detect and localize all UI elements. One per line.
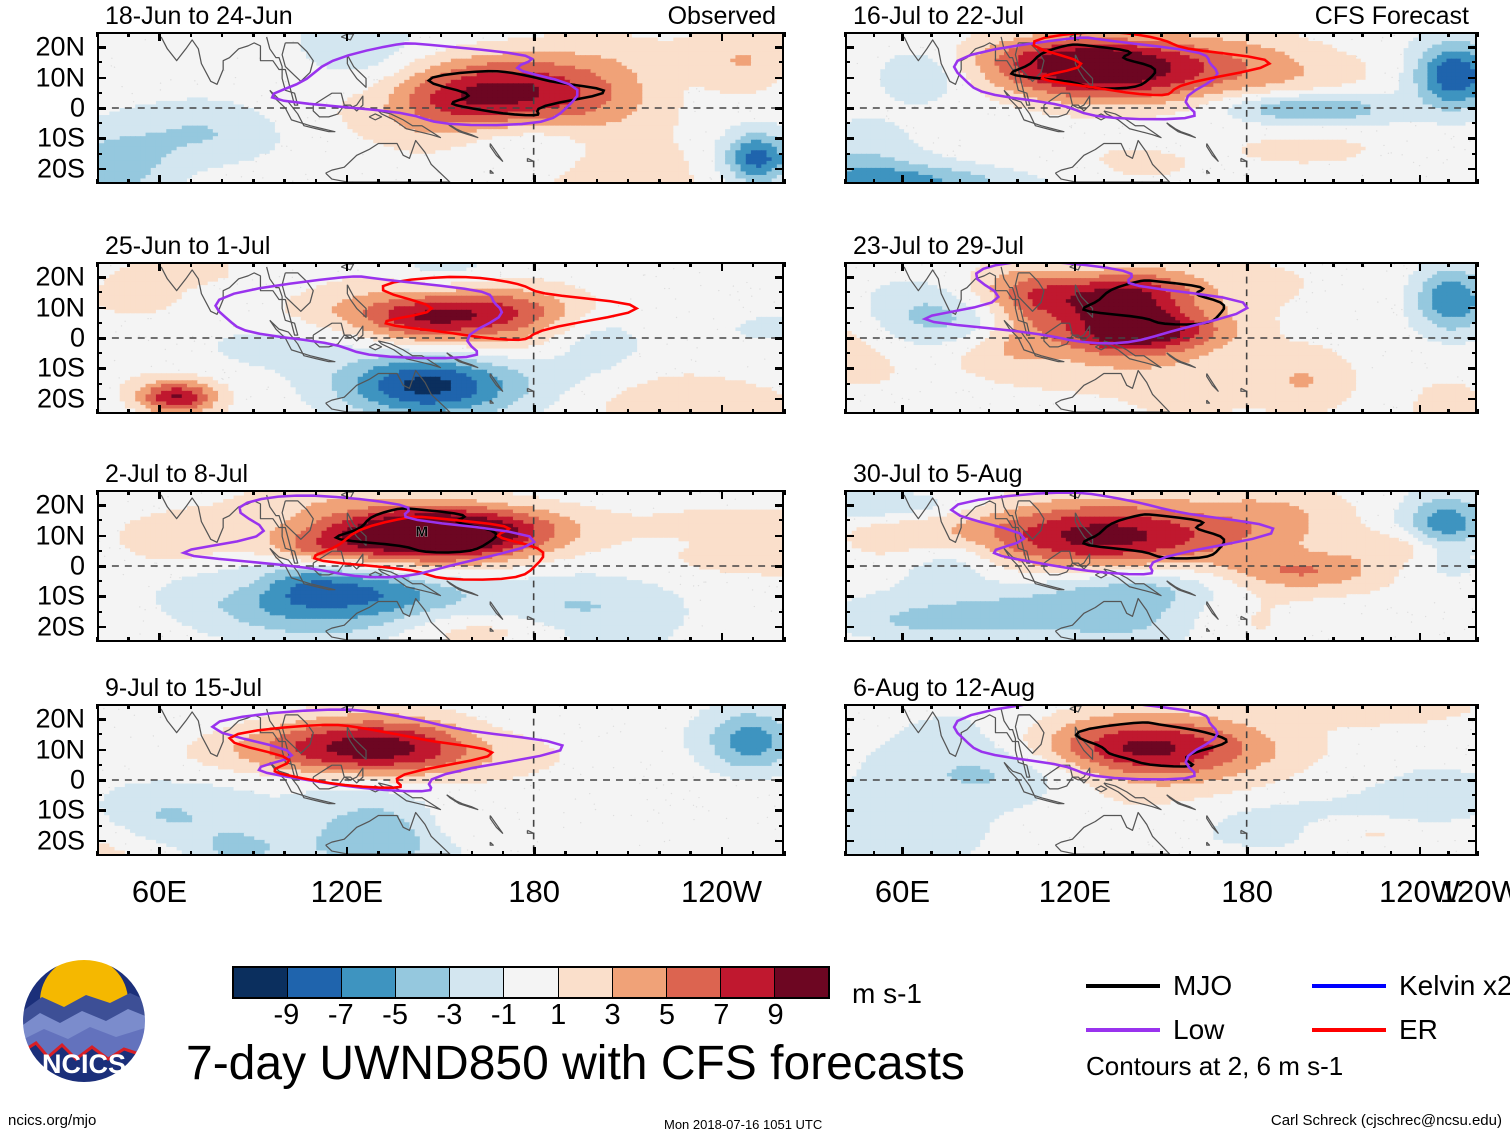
- y-axis-tick: [1468, 504, 1477, 507]
- x-axis-minor-tick: [564, 262, 567, 267]
- x-axis-minor-tick: [783, 409, 786, 414]
- x-axis-minor-tick: [190, 179, 193, 184]
- x-axis-minor-tick: [190, 851, 193, 856]
- panel-title: 23-Jul to 29-Jul: [853, 234, 1024, 259]
- x-axis-minor-tick: [689, 32, 692, 37]
- x-axis-minor-tick: [1045, 179, 1048, 184]
- x-axis-minor-tick: [252, 851, 255, 856]
- map-svg: M: [99, 492, 782, 640]
- x-axis-tick: [901, 490, 904, 499]
- y-axis-tick: [775, 504, 784, 507]
- x-axis-minor-tick: [408, 851, 411, 856]
- x-axis-minor-tick: [752, 637, 755, 642]
- x-axis-tick: [1419, 175, 1422, 184]
- x-axis-tick-label: 180: [508, 876, 560, 907]
- x-axis-minor-tick: [959, 262, 962, 267]
- x-axis-minor-tick: [689, 637, 692, 642]
- y-axis-tick: [97, 137, 106, 140]
- y-axis-minor-tick: [97, 291, 102, 293]
- x-axis-minor-tick: [1447, 851, 1450, 856]
- x-axis-minor-tick: [1361, 32, 1364, 37]
- x-axis-minor-tick: [783, 490, 786, 495]
- legend-line-swatch: [1086, 984, 1160, 988]
- x-axis-minor-tick: [873, 851, 876, 856]
- x-axis-minor-tick: [627, 32, 630, 37]
- x-axis-minor-tick: [283, 637, 286, 642]
- x-axis-minor-tick: [1361, 490, 1364, 495]
- x-axis-minor-tick: [1103, 32, 1106, 37]
- x-axis-minor-tick: [1476, 32, 1479, 37]
- x-axis-minor-tick: [96, 704, 99, 709]
- legend-entry: MJO: [1086, 972, 1232, 1000]
- x-axis-minor-tick: [471, 851, 474, 856]
- x-axis-minor-tick: [959, 32, 962, 37]
- x-axis-minor-tick: [658, 32, 661, 37]
- y-axis-minor-tick: [1472, 550, 1477, 552]
- y-axis-tick: [775, 276, 784, 279]
- x-axis-tick: [901, 847, 904, 856]
- x-axis-minor-tick: [1217, 32, 1220, 37]
- x-axis-minor-tick: [127, 490, 130, 495]
- x-axis-minor-tick: [1275, 490, 1278, 495]
- x-axis-minor-tick: [1189, 637, 1192, 642]
- contour-note: Contours at 2, 6 m s-1: [1086, 1053, 1343, 1079]
- y-axis-minor-tick: [1472, 92, 1477, 94]
- y-axis-tick-label: 20S: [0, 827, 85, 854]
- x-axis-minor-tick: [1160, 409, 1163, 414]
- x-axis-minor-tick: [377, 32, 380, 37]
- x-axis-minor-tick: [190, 704, 193, 709]
- x-axis-minor-tick: [252, 409, 255, 414]
- x-axis-minor-tick: [1103, 851, 1106, 856]
- y-axis-minor-tick: [1472, 580, 1477, 582]
- x-axis-tick: [721, 175, 724, 184]
- x-axis-minor-tick: [596, 851, 599, 856]
- x-axis-minor-tick: [627, 179, 630, 184]
- x-axis-minor-tick: [252, 179, 255, 184]
- colorbar-tick-label: -1: [491, 1001, 517, 1030]
- x-axis-minor-tick: [783, 851, 786, 856]
- x-axis-tick: [1074, 633, 1077, 642]
- colorbar-swatch: [667, 968, 721, 997]
- y-axis-tick: [845, 337, 854, 340]
- x-axis-minor-tick: [440, 704, 443, 709]
- x-axis-minor-tick: [408, 262, 411, 267]
- x-axis-minor-tick: [1476, 851, 1479, 856]
- map-panel[interactable]: [845, 490, 1477, 642]
- x-axis-minor-tick: [502, 409, 505, 414]
- x-axis-minor-tick: [440, 32, 443, 37]
- x-axis-minor-tick: [315, 32, 318, 37]
- panel-title: 2-Jul to 8-Jul: [105, 462, 248, 487]
- x-axis-minor-tick: [873, 179, 876, 184]
- x-axis-minor-tick: [844, 704, 847, 709]
- x-axis-tick: [533, 32, 536, 41]
- x-axis-minor-tick: [1217, 704, 1220, 709]
- x-axis-minor-tick: [1361, 262, 1364, 267]
- y-axis-minor-tick: [1472, 611, 1477, 613]
- y-axis-tick: [845, 107, 854, 110]
- x-axis-minor-tick: [1016, 32, 1019, 37]
- x-axis-minor-tick: [627, 637, 630, 642]
- x-axis-tick: [1246, 175, 1249, 184]
- x-axis-minor-tick: [1045, 262, 1048, 267]
- x-axis-minor-tick: [1103, 704, 1106, 709]
- x-axis-minor-tick: [1045, 637, 1048, 642]
- panel-title: 9-Jul to 15-Jul: [105, 676, 262, 701]
- y-axis-minor-tick: [97, 550, 102, 552]
- x-axis-tick: [1419, 490, 1422, 499]
- x-axis-tick: [721, 490, 724, 499]
- y-axis-minor-tick: [845, 153, 850, 155]
- panel-title: 25-Jun to 1-Jul: [105, 234, 270, 259]
- y-axis-minor-tick: [779, 122, 784, 124]
- x-axis-minor-tick: [408, 637, 411, 642]
- x-axis-minor-tick: [873, 409, 876, 414]
- x-axis-minor-tick: [408, 704, 411, 709]
- x-axis-minor-tick: [930, 851, 933, 856]
- y-axis-minor-tick: [845, 122, 850, 124]
- x-axis-minor-tick: [1016, 637, 1019, 642]
- x-axis-minor-tick: [658, 409, 661, 414]
- x-axis-minor-tick: [502, 637, 505, 642]
- colorbar-tick-label: -9: [273, 1001, 299, 1030]
- x-axis-minor-tick: [408, 179, 411, 184]
- x-axis-minor-tick: [1304, 262, 1307, 267]
- x-axis-tick: [158, 32, 161, 41]
- x-axis-minor-tick: [252, 32, 255, 37]
- x-axis-minor-tick: [873, 637, 876, 642]
- x-axis-minor-tick: [1189, 851, 1192, 856]
- x-axis-minor-tick: [564, 704, 567, 709]
- y-axis-tick: [845, 398, 854, 401]
- x-axis-tick: [533, 175, 536, 184]
- x-axis-minor-tick: [127, 179, 130, 184]
- y-axis-minor-tick: [97, 825, 102, 827]
- x-axis-minor-tick: [1447, 409, 1450, 414]
- x-axis-minor-tick: [1332, 409, 1335, 414]
- x-axis-minor-tick: [1016, 409, 1019, 414]
- colorbar-units-label: m s-1: [852, 980, 922, 1008]
- x-axis-minor-tick: [1016, 851, 1019, 856]
- x-axis-minor-tick: [844, 637, 847, 642]
- x-axis-minor-tick: [1045, 704, 1048, 709]
- x-axis-tick-label: 120E: [1039, 876, 1111, 907]
- x-axis-tick: [1074, 175, 1077, 184]
- x-axis-tick-label: 120W: [1440, 876, 1510, 907]
- y-axis-tick: [845, 749, 854, 752]
- colorbar-tick-label: 7: [713, 1001, 729, 1030]
- y-axis-tick: [1468, 718, 1477, 721]
- x-axis-minor-tick: [221, 704, 224, 709]
- x-axis-minor-tick: [440, 262, 443, 267]
- map-svg: [99, 706, 782, 854]
- y-axis-tick: [845, 77, 854, 80]
- x-axis-minor-tick: [783, 262, 786, 267]
- x-axis-minor-tick: [627, 409, 630, 414]
- x-axis-minor-tick: [844, 32, 847, 37]
- x-axis-minor-tick: [252, 637, 255, 642]
- y-axis-minor-tick: [779, 519, 784, 521]
- y-axis-minor-tick: [1472, 794, 1477, 796]
- x-axis-tick: [901, 704, 904, 713]
- x-axis-minor-tick: [658, 704, 661, 709]
- x-axis-minor-tick: [1160, 851, 1163, 856]
- x-axis-minor-tick: [658, 851, 661, 856]
- x-axis-minor-tick: [96, 409, 99, 414]
- x-axis-minor-tick: [596, 409, 599, 414]
- y-axis-tick: [1468, 367, 1477, 370]
- x-axis-tick: [1419, 32, 1422, 41]
- y-axis-tick: [775, 840, 784, 843]
- y-axis-tick: [97, 840, 106, 843]
- x-axis-minor-tick: [377, 637, 380, 642]
- x-axis-minor-tick: [689, 851, 692, 856]
- map-panel[interactable]: [97, 704, 784, 856]
- y-axis-tick-label: 20S: [0, 613, 85, 640]
- y-axis-tick: [845, 46, 854, 49]
- x-axis-minor-tick: [1045, 851, 1048, 856]
- x-axis-minor-tick: [127, 262, 130, 267]
- x-axis-tick: [901, 262, 904, 271]
- y-axis-tick: [97, 367, 106, 370]
- x-axis-minor-tick: [471, 262, 474, 267]
- x-axis-minor-tick: [658, 262, 661, 267]
- x-axis-minor-tick: [627, 490, 630, 495]
- y-axis-minor-tick: [97, 764, 102, 766]
- x-axis-minor-tick: [1361, 704, 1364, 709]
- column-header: CFS Forecast: [1315, 4, 1469, 29]
- y-axis-tick: [845, 840, 854, 843]
- y-axis-minor-tick: [1472, 352, 1477, 354]
- y-axis-minor-tick: [845, 611, 850, 613]
- x-axis-minor-tick: [658, 637, 661, 642]
- y-axis-minor-tick: [97, 733, 102, 735]
- x-axis-minor-tick: [930, 32, 933, 37]
- x-axis-minor-tick: [315, 704, 318, 709]
- x-axis-minor-tick: [283, 851, 286, 856]
- x-axis-minor-tick: [930, 179, 933, 184]
- y-axis-minor-tick: [779, 383, 784, 385]
- x-axis-minor-tick: [283, 262, 286, 267]
- x-axis-minor-tick: [377, 704, 380, 709]
- y-axis-tick: [1468, 535, 1477, 538]
- x-axis-tick: [533, 405, 536, 414]
- y-axis-tick: [775, 626, 784, 629]
- x-axis-minor-tick: [283, 490, 286, 495]
- y-axis-tick: [775, 565, 784, 568]
- x-axis-minor-tick: [1304, 179, 1307, 184]
- x-axis-minor-tick: [1016, 179, 1019, 184]
- y-axis-tick-label: 10N: [0, 294, 85, 321]
- x-axis-minor-tick: [1390, 704, 1393, 709]
- x-axis-minor-tick: [1103, 262, 1106, 267]
- x-axis-minor-tick: [1045, 490, 1048, 495]
- x-axis-minor-tick: [471, 704, 474, 709]
- x-axis-minor-tick: [1304, 409, 1307, 414]
- y-axis-tick: [97, 504, 106, 507]
- map-panel[interactable]: [845, 262, 1477, 414]
- x-axis-tick: [1074, 704, 1077, 713]
- colorbar: -9-7-5-3-113579: [232, 966, 830, 999]
- x-axis-minor-tick: [1275, 851, 1278, 856]
- x-axis-minor-tick: [502, 262, 505, 267]
- map-svg: [847, 706, 1475, 854]
- x-axis-minor-tick: [502, 490, 505, 495]
- x-axis-minor-tick: [221, 409, 224, 414]
- y-axis-minor-tick: [779, 153, 784, 155]
- x-axis-minor-tick: [221, 637, 224, 642]
- y-axis-tick: [97, 337, 106, 340]
- x-axis-tick: [901, 32, 904, 41]
- x-axis-minor-tick: [252, 262, 255, 267]
- y-axis-tick: [845, 809, 854, 812]
- x-axis-minor-tick: [1476, 262, 1479, 267]
- x-axis-minor-tick: [930, 490, 933, 495]
- x-axis-minor-tick: [1160, 32, 1163, 37]
- x-axis-minor-tick: [658, 490, 661, 495]
- x-axis-minor-tick: [127, 32, 130, 37]
- footer-link[interactable]: ncics.org/mjo: [8, 1113, 96, 1128]
- y-axis-tick-label: 10S: [0, 583, 85, 610]
- x-axis-minor-tick: [1275, 179, 1278, 184]
- x-axis-minor-tick: [689, 409, 692, 414]
- footer-author: Carl Schreck (cjschrec@ncsu.edu): [1271, 1113, 1502, 1128]
- x-axis-tick-label: 60E: [132, 876, 187, 907]
- y-axis-minor-tick: [845, 61, 850, 63]
- map-panel[interactable]: [845, 32, 1477, 184]
- map-svg: [847, 34, 1475, 182]
- x-axis-minor-tick: [564, 32, 567, 37]
- x-axis-minor-tick: [596, 704, 599, 709]
- x-axis-minor-tick: [873, 490, 876, 495]
- x-axis-minor-tick: [959, 851, 962, 856]
- x-axis-minor-tick: [1275, 409, 1278, 414]
- x-axis-tick: [158, 405, 161, 414]
- x-axis-minor-tick: [689, 262, 692, 267]
- map-panel[interactable]: [845, 704, 1477, 856]
- colorbar-swatch: [504, 968, 558, 997]
- x-axis-tick: [721, 633, 724, 642]
- y-axis-tick: [845, 626, 854, 629]
- x-axis-minor-tick: [959, 637, 962, 642]
- x-axis-tick: [1246, 704, 1249, 713]
- x-axis-minor-tick: [1361, 179, 1364, 184]
- x-axis-minor-tick: [844, 490, 847, 495]
- y-axis-tick: [845, 535, 854, 538]
- x-axis-minor-tick: [988, 262, 991, 267]
- y-axis-tick: [1468, 77, 1477, 80]
- x-axis-minor-tick: [1304, 32, 1307, 37]
- y-axis-tick-label: 10N: [0, 522, 85, 549]
- x-axis-minor-tick: [1189, 262, 1192, 267]
- x-axis-tick: [1419, 847, 1422, 856]
- y-axis-minor-tick: [1472, 383, 1477, 385]
- colorbar-tick-label: 1: [550, 1001, 566, 1030]
- colorbar-swatch: [234, 968, 288, 997]
- x-axis-tick: [533, 262, 536, 271]
- y-axis-minor-tick: [97, 519, 102, 521]
- x-axis-minor-tick: [1332, 851, 1335, 856]
- x-axis-minor-tick: [1332, 32, 1335, 37]
- x-axis-minor-tick: [1131, 637, 1134, 642]
- x-axis-minor-tick: [96, 490, 99, 495]
- x-axis-tick: [346, 175, 349, 184]
- colorbar-swatch: [775, 968, 828, 997]
- x-axis-minor-tick: [873, 32, 876, 37]
- colorbar-tick-label: 9: [768, 1001, 784, 1030]
- map-panel[interactable]: M: [97, 490, 784, 642]
- x-axis-minor-tick: [1131, 179, 1134, 184]
- colorbar-tick-label: 5: [659, 1001, 675, 1030]
- map-panel[interactable]: [97, 32, 784, 184]
- x-axis-minor-tick: [1217, 179, 1220, 184]
- y-axis-minor-tick: [1472, 122, 1477, 124]
- colorbar-tick-label: -7: [328, 1001, 354, 1030]
- x-axis-minor-tick: [1332, 490, 1335, 495]
- y-axis-minor-tick: [1472, 291, 1477, 293]
- y-axis-minor-tick: [779, 61, 784, 63]
- footer-timestamp: Mon 2018-07-16 1051 UTC: [664, 1117, 822, 1132]
- x-axis-minor-tick: [1304, 704, 1307, 709]
- column-header: Observed: [668, 4, 776, 29]
- x-axis-minor-tick: [596, 637, 599, 642]
- x-axis-minor-tick: [752, 262, 755, 267]
- x-axis-minor-tick: [1390, 32, 1393, 37]
- x-axis-tick: [158, 633, 161, 642]
- x-axis-tick: [1246, 32, 1249, 41]
- x-axis-minor-tick: [1275, 262, 1278, 267]
- x-axis-minor-tick: [564, 637, 567, 642]
- y-axis-tick: [845, 718, 854, 721]
- x-axis-tick: [346, 847, 349, 856]
- x-axis-minor-tick: [502, 32, 505, 37]
- x-axis-minor-tick: [377, 851, 380, 856]
- x-axis-minor-tick: [1016, 490, 1019, 495]
- x-axis-minor-tick: [283, 704, 286, 709]
- x-axis-minor-tick: [1131, 262, 1134, 267]
- y-axis-minor-tick: [97, 92, 102, 94]
- y-axis-minor-tick: [97, 61, 102, 63]
- x-axis-minor-tick: [564, 179, 567, 184]
- y-axis-tick: [1468, 565, 1477, 568]
- x-axis-tick: [1419, 633, 1422, 642]
- colorbar-swatch: [559, 968, 613, 997]
- x-axis-minor-tick: [440, 490, 443, 495]
- x-axis-minor-tick: [96, 851, 99, 856]
- x-axis-minor-tick: [127, 851, 130, 856]
- x-axis-minor-tick: [190, 637, 193, 642]
- x-axis-minor-tick: [190, 409, 193, 414]
- x-axis-minor-tick: [783, 637, 786, 642]
- x-axis-tick: [721, 847, 724, 856]
- x-axis-minor-tick: [1045, 32, 1048, 37]
- x-axis-minor-tick: [627, 262, 630, 267]
- y-axis-minor-tick: [845, 92, 850, 94]
- y-axis-minor-tick: [779, 733, 784, 735]
- x-axis-minor-tick: [988, 490, 991, 495]
- y-axis-minor-tick: [845, 291, 850, 293]
- x-axis-minor-tick: [844, 409, 847, 414]
- x-axis-tick: [533, 490, 536, 499]
- y-axis-tick: [775, 809, 784, 812]
- legend-label: Low: [1173, 1016, 1224, 1044]
- x-axis-tick: [1074, 405, 1077, 414]
- map-panel[interactable]: [97, 262, 784, 414]
- x-axis-minor-tick: [959, 490, 962, 495]
- x-axis-minor-tick: [190, 490, 193, 495]
- colorbar-tick-label: 3: [604, 1001, 620, 1030]
